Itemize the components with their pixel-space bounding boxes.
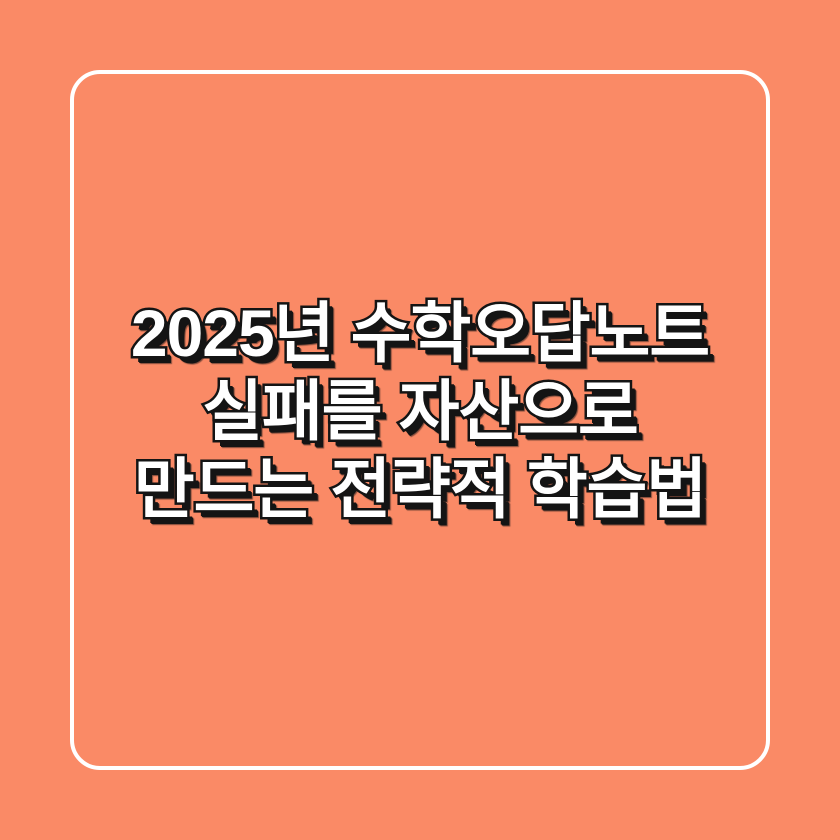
title-block: 2025년 수학오답노트 실패를 자산으로 만드는 전략적 학습법 [0, 0, 840, 840]
title-line-1: 2025년 수학오답노트 [0, 294, 840, 372]
title-line-2: 실패를 자산으로 [0, 372, 840, 450]
thumbnail-card: 2025년 수학오답노트 실패를 자산으로 만드는 전략적 학습법 [0, 0, 840, 840]
title-line-3: 만드는 전략적 학습법 [0, 450, 840, 528]
